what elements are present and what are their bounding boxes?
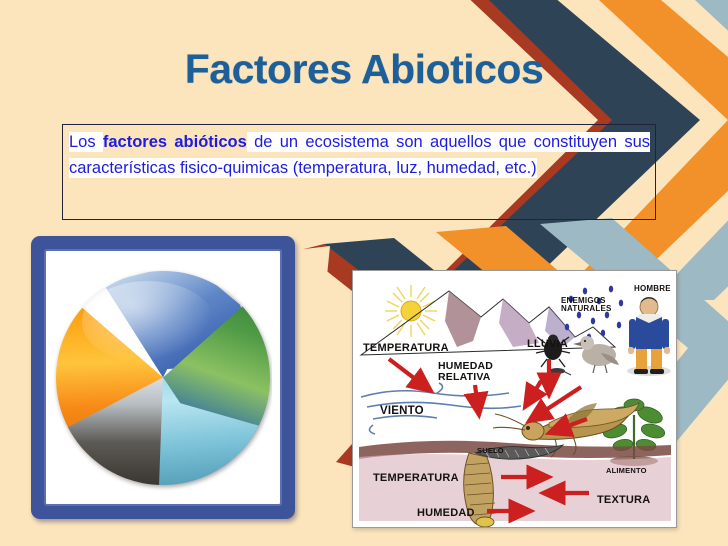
- diagram-label-temperatura-suelo: TEMPERATURA: [373, 473, 459, 485]
- diagram-label-enemigos-naturales: ENEMIGOS NATURALES: [561, 297, 612, 314]
- right-diagram-frame: TEMPERATURALLUVIAHUMEDAD RELATIVAENEMIGO…: [352, 270, 677, 528]
- bird-icon: [573, 336, 619, 373]
- arrow-enemigos-1: [525, 381, 541, 407]
- page-title: Factores Abioticos: [0, 46, 728, 93]
- sun-icon: [385, 285, 437, 337]
- diagram-label-lluvia: LLUVIA: [527, 339, 568, 351]
- body-text: Los factores abióticos de un ecosistema …: [69, 130, 650, 181]
- diagram-label-hombre: HOMBRE: [634, 285, 671, 293]
- body-textbox: Los factores abióticos de un ecosistema …: [62, 124, 656, 220]
- nature-sphere-image: [56, 271, 270, 485]
- man-icon: [627, 297, 671, 376]
- slide-canvas: Factores Abioticos Los factores abiótico…: [0, 0, 728, 546]
- diagram-label-textura: TEXTURA: [597, 495, 650, 507]
- abiotic-factors-diagram: TEMPERATURALLUVIAHUMEDAD RELATIVAENEMIGO…: [353, 271, 676, 527]
- diagram-label-viento: VIENTO: [380, 405, 424, 417]
- diagram-label-temperatura-aire: TEMPERATURA: [363, 343, 449, 355]
- diagram-label-humedad-suelo: HUMEDAD: [417, 508, 475, 520]
- arrow-humedad-relativa: [475, 385, 479, 415]
- body-text-bold-run: factores abióticos: [103, 133, 247, 151]
- diagram-label-alimento: ALIMENTO: [606, 467, 647, 475]
- left-photo-inner-ring: [44, 249, 282, 506]
- chevron-bluegray-upper: [652, 0, 728, 300]
- diagram-artwork: [353, 271, 676, 527]
- arrow-temperatura-aire: [389, 359, 431, 391]
- diagram-label-suelo: SUELO: [477, 447, 504, 455]
- left-photo-stage: [54, 257, 272, 498]
- body-text-run-1: Los: [69, 132, 103, 152]
- sphere-highlight: [82, 281, 215, 362]
- left-photo-frame: [31, 236, 295, 519]
- diagram-label-humedad-relativa: HUMEDAD RELATIVA: [438, 361, 493, 383]
